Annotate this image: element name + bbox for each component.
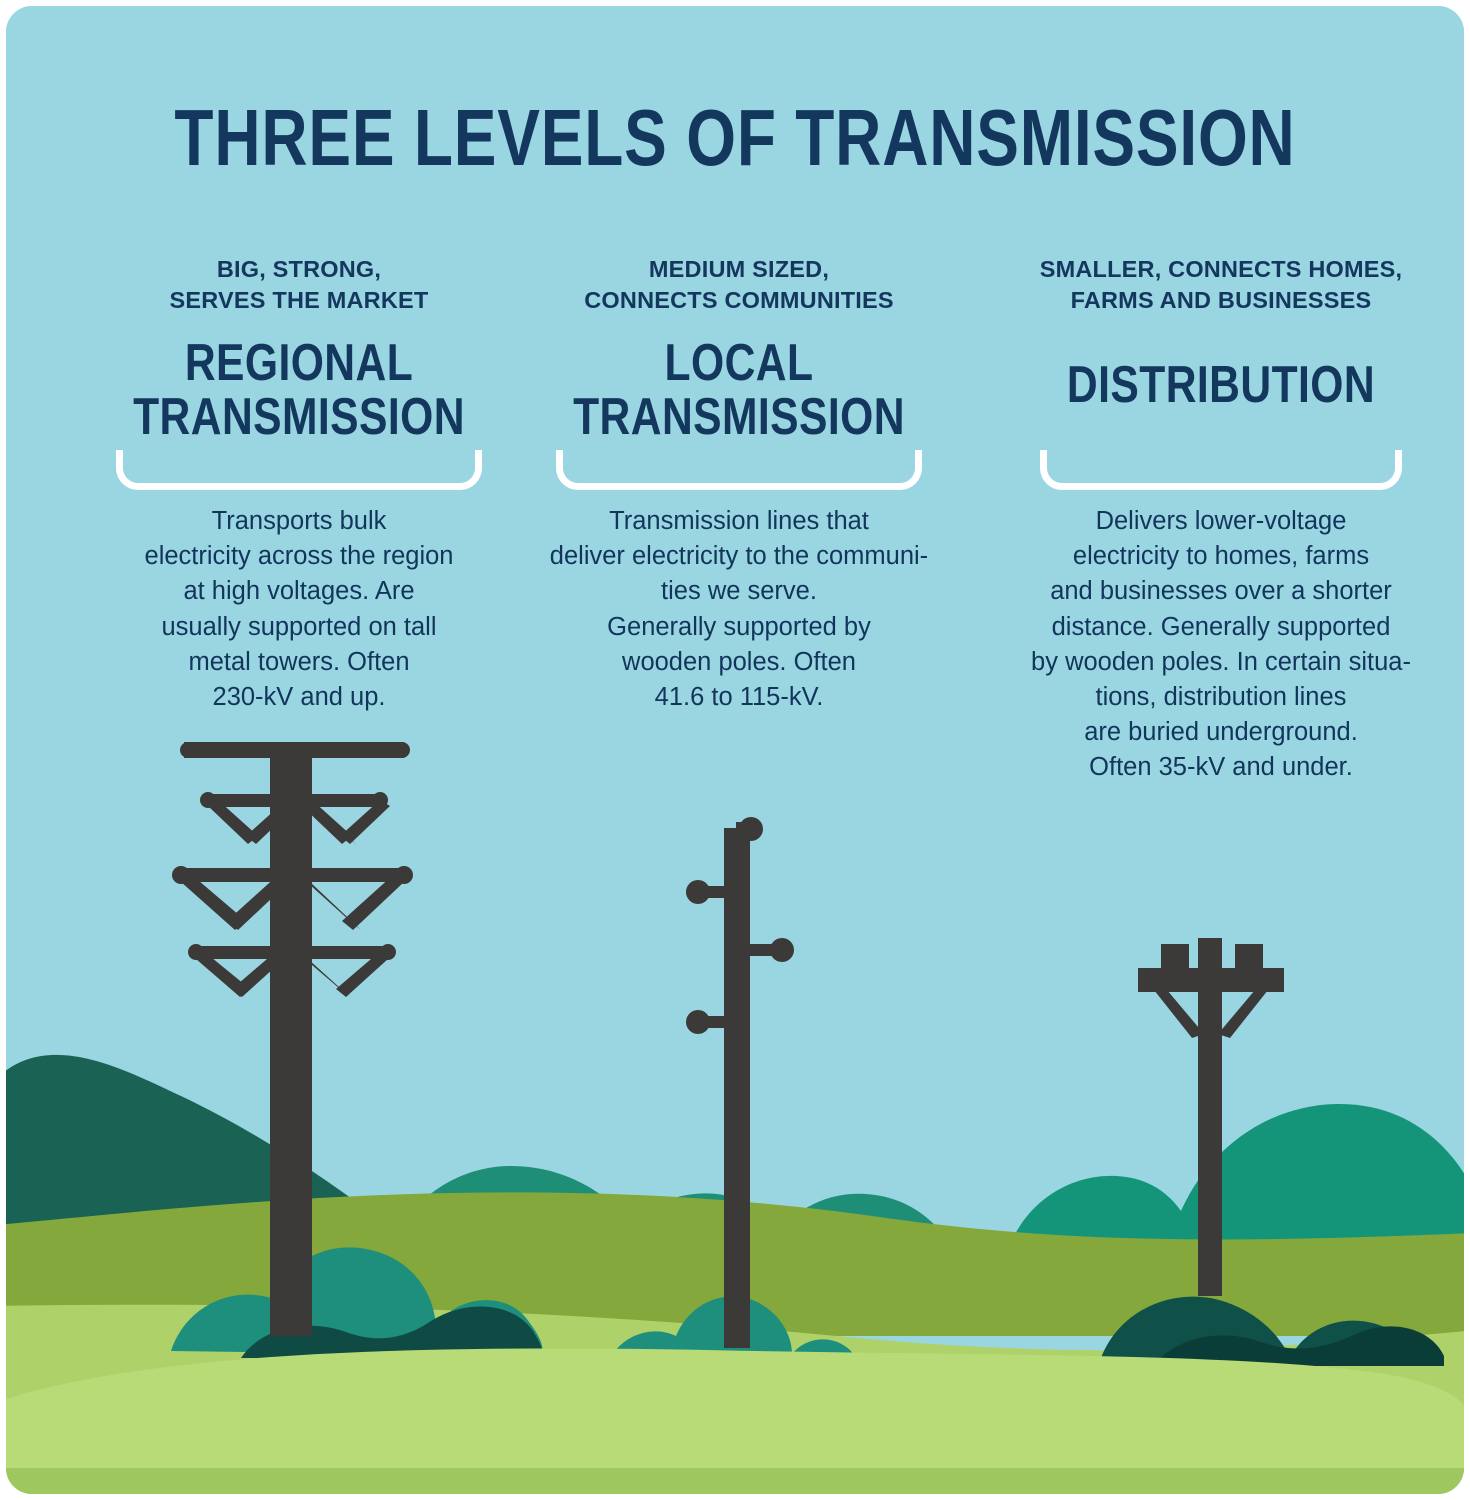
body-line: 41.6 to 115-kV.	[534, 680, 944, 715]
heading-line: TRANSMISSION	[571, 390, 907, 444]
column-heading: LOCAL TRANSMISSION	[571, 336, 907, 444]
column-kicker: SMALLER, CONNECTS HOMES, FARMS AND BUSIN…	[1016, 254, 1426, 316]
column-heading: REGIONAL TRANSMISSION	[131, 336, 467, 444]
body-line: Delivers lower-voltage	[1016, 504, 1426, 539]
column-body: Transports bulk electricity across the r…	[94, 504, 504, 715]
column-body: Transmission lines that deliver electric…	[534, 504, 944, 715]
columns-container: BIG, STRONG, SERVES THE MARKET REGIONAL …	[6, 6, 1464, 766]
body-line: Often 35-kV and under.	[1016, 750, 1426, 785]
kicker-line: FARMS AND BUSINESSES	[1016, 285, 1426, 316]
body-line: at high voltages. Are	[94, 574, 504, 609]
kicker-line: BIG, STRONG,	[94, 254, 504, 285]
kicker-line: MEDIUM SIZED,	[534, 254, 944, 285]
heading-line: REGIONAL	[131, 336, 467, 390]
column-bracket	[1040, 450, 1402, 490]
body-line: wooden poles. Often	[534, 645, 944, 680]
body-line: Transports bulk	[94, 504, 504, 539]
column-kicker: BIG, STRONG, SERVES THE MARKET	[94, 254, 504, 316]
heading-line: TRANSMISSION	[131, 390, 467, 444]
infographic-canvas: THREE LEVELS OF TRANSMISSION BIG, STRONG…	[6, 6, 1464, 1494]
column-bracket	[556, 450, 922, 490]
body-line: electricity across the region	[94, 539, 504, 574]
body-line: and businesses over a shorter	[1016, 574, 1426, 609]
body-line: usually supported on tall	[94, 610, 504, 645]
field-bottom-strip	[6, 1468, 1464, 1494]
column-bracket	[116, 450, 482, 490]
column-heading: DISTRIBUTION	[1053, 358, 1389, 412]
body-line: deliver electricity to the communi-	[534, 539, 944, 574]
body-line: are buried underground.	[1016, 715, 1426, 750]
body-line: distance. Generally supported	[1016, 610, 1426, 645]
body-line: Generally supported by	[534, 610, 944, 645]
body-line: Transmission lines that	[534, 504, 944, 539]
kicker-line: SERVES THE MARKET	[94, 285, 504, 316]
body-line: tions, distribution lines	[1016, 680, 1426, 715]
kicker-line: SMALLER, CONNECTS HOMES,	[1016, 254, 1426, 285]
kicker-line: CONNECTS COMMUNITIES	[534, 285, 944, 316]
column-body: Delivers lower-voltage electricity to ho…	[1016, 504, 1426, 786]
column-kicker: MEDIUM SIZED, CONNECTS COMMUNITIES	[534, 254, 944, 316]
body-line: ties we serve.	[534, 574, 944, 609]
body-line: metal towers. Often	[94, 645, 504, 680]
body-line: by wooden poles. In certain situa-	[1016, 645, 1426, 680]
heading-line: LOCAL	[571, 336, 907, 390]
body-line: electricity to homes, farms	[1016, 539, 1426, 574]
body-line: 230-kV and up.	[94, 680, 504, 715]
heading-line: DISTRIBUTION	[1053, 358, 1389, 412]
infographic-root: THREE LEVELS OF TRANSMISSION BIG, STRONG…	[0, 0, 1470, 1500]
